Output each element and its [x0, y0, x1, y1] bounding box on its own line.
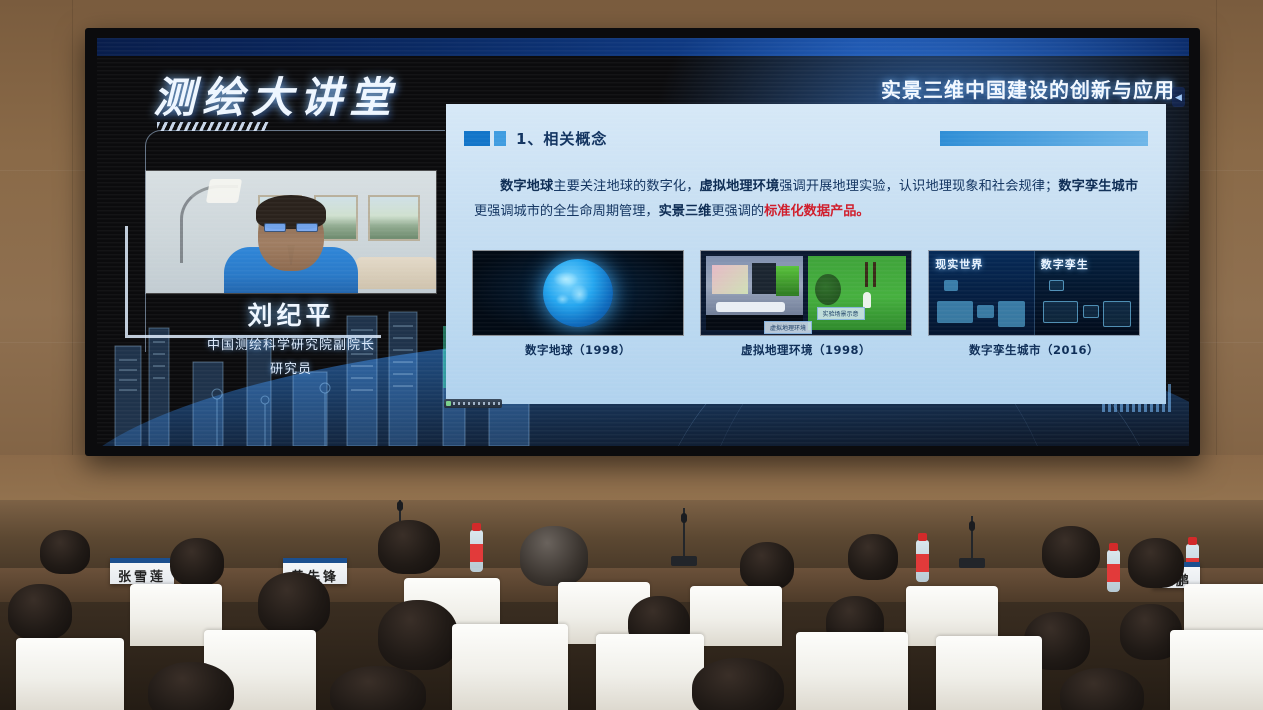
sofa [356, 257, 436, 289]
term-digital-twin-city: 数字孪生城市 [1058, 179, 1138, 194]
term-digital-earth: 数字地球 [500, 179, 553, 194]
figure-image-vge: 实验场景示意 虚拟地理环境 [700, 250, 912, 336]
paragraph-seg-1: 主要关注地球的数字化， [553, 179, 699, 194]
vge-vegetation [815, 274, 841, 305]
figure-image-twin: 现实世界 数字孪生 [928, 250, 1140, 336]
vge-dark-screen [752, 263, 775, 294]
slide-figure-row: 数字地球（1998） [472, 250, 1140, 358]
vge-terrain-screen [776, 266, 799, 296]
figure-digital-twin-city[interactable]: 现实世界 数字孪生 [928, 250, 1140, 358]
figure-caption: 数字孪生城市（2016） [928, 342, 1140, 358]
speaker-affiliation-line2: 研究员 [146, 361, 436, 380]
glasses-icon [264, 223, 318, 232]
screen-share-toolbar[interactable] [444, 399, 502, 408]
vge-tag-left: 虚拟地理环境 [764, 321, 812, 334]
lecture-title: 实景三维中国建设的创新与应用 [881, 74, 1175, 103]
paragraph-highlight: 标准化数据产品。 [764, 204, 870, 219]
figure-image-globe [472, 250, 684, 336]
speaker-video-feed[interactable] [146, 171, 436, 293]
slide-section-heading: 1、相关概念 [516, 128, 607, 149]
figure-digital-earth[interactable]: 数字地球（1998） [472, 250, 684, 358]
program-brand-title: 测绘大讲堂 [153, 64, 398, 125]
vge-avatar [863, 292, 871, 308]
speaker-affiliation-line1: 中国测绘科学研究院副院长 [146, 337, 436, 356]
slide-paragraph: 数字地球主要关注地球的数字化，虚拟地理环境强调开展地理实验，认识地理现象和社会规… [474, 174, 1138, 224]
paragraph-seg-3: 律； [1032, 179, 1058, 194]
speaker-name: 刘纪平 [146, 296, 436, 332]
term-vge: 虚拟地理环境 [700, 179, 780, 194]
twin-label-digital-twin: 数字孪生 [1041, 256, 1089, 272]
term-real-scene-3d: 实景三维 [659, 204, 712, 219]
lamp-shade [206, 179, 242, 203]
figure-caption: 数字地球（1998） [472, 342, 684, 358]
twin-label-real-world: 现实世界 [935, 256, 983, 272]
vge-tag-right: 实验场景示意 [817, 307, 865, 320]
globe-graphic [543, 259, 613, 327]
twin-digital-half: 数字孪生 [1034, 251, 1140, 335]
vge-map-screen [712, 265, 749, 295]
heading-bar-secondary [494, 131, 506, 146]
figure-caption: 虚拟地理环境（1998） [700, 342, 912, 358]
presentation-slide[interactable]: 1、相关概念 数字地球主要关注地球的数字化，虚拟地理环境强调开展地理实验，认识地… [446, 104, 1166, 404]
vge-desk [716, 302, 786, 312]
twin-real-world-half: 现实世界 [929, 251, 1034, 335]
slide-heading-row: 1、相关概念 [464, 118, 1148, 158]
paragraph-seg-5: 更强调的 [711, 204, 764, 219]
heading-bar-primary [464, 131, 490, 146]
wall-picture-3 [368, 195, 420, 241]
share-active-icon [446, 401, 451, 406]
paragraph-seg-2: 强调开展地理实验，认识地理现象和社会规 [779, 179, 1032, 194]
figure-vge[interactable]: 实验场景示意 虚拟地理环境 虚拟地理环境（1998） [700, 250, 912, 358]
paragraph-seg-4: 更强调城市的全生命周期管理， [474, 204, 659, 219]
heading-bar-right [940, 131, 1148, 146]
speaker-name-block: 刘纪平 中国测绘科学研究院副院长 研究员 [146, 296, 436, 380]
share-toolbar-buttons[interactable] [453, 402, 500, 405]
collapse-panel-icon[interactable]: ◀ [1172, 87, 1185, 107]
conference-room-photo: 测绘大讲堂 实景三维中国建设的创新与应用 ◀ 刘纪平 中国测绘科学研究院副院长 … [0, 0, 1263, 710]
vge-lab-scene [706, 256, 803, 330]
slide-corner-br [1142, 380, 1166, 404]
